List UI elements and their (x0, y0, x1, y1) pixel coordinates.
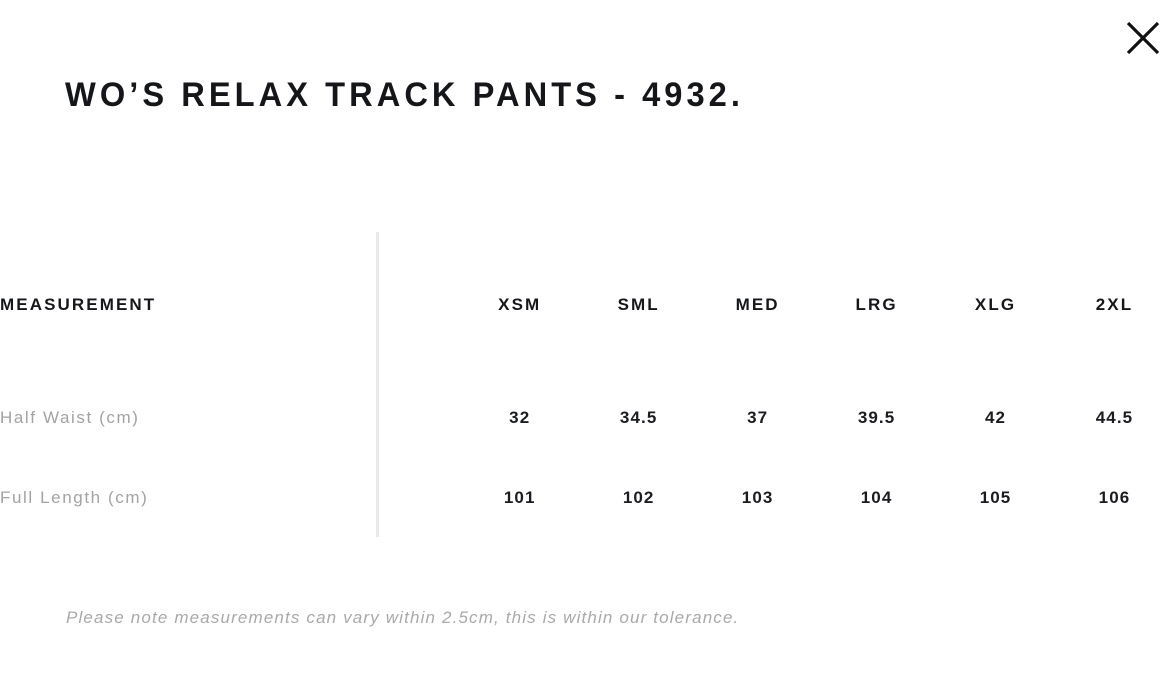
table-row: Full Length (cm) 101 102 103 104 105 106 (0, 458, 1174, 538)
cell-full-length-med: 103 (698, 458, 817, 538)
column-header-xlg: XLG (936, 232, 1055, 378)
cell-half-waist-xsm: 32 (460, 378, 579, 458)
column-header-lrg: LRG (817, 232, 936, 378)
cell-full-length-lrg: 104 (817, 458, 936, 538)
column-header-sml: SML (579, 232, 698, 378)
size-chart: MEASUREMENT XSM SML MED LRG XLG 2XL Half… (0, 232, 1174, 537)
tolerance-note: Please note measurements can vary within… (66, 608, 739, 628)
cell-full-length-xsm: 101 (460, 458, 579, 538)
close-icon (1126, 21, 1160, 55)
column-header-med: MED (698, 232, 817, 378)
close-button[interactable] (1123, 18, 1163, 58)
cell-half-waist-med: 37 (698, 378, 817, 458)
cell-half-waist-lrg: 39.5 (817, 378, 936, 458)
cell-full-length-xlg: 105 (936, 458, 1055, 538)
table-row: Half Waist (cm) 32 34.5 37 39.5 42 44.5 (0, 378, 1174, 458)
cell-half-waist-2xl: 44.5 (1055, 378, 1174, 458)
row-label-full-length: Full Length (cm) (0, 458, 460, 538)
cell-half-waist-xlg: 42 (936, 378, 1055, 458)
table-header-row: MEASUREMENT XSM SML MED LRG XLG 2XL (0, 232, 1174, 378)
cell-full-length-2xl: 106 (1055, 458, 1174, 538)
cell-full-length-sml: 102 (579, 458, 698, 538)
size-chart-table: MEASUREMENT XSM SML MED LRG XLG 2XL Half… (0, 232, 1174, 538)
cell-half-waist-sml: 34.5 (579, 378, 698, 458)
column-header-xsm: XSM (460, 232, 579, 378)
column-header-2xl: 2XL (1055, 232, 1174, 378)
column-header-measurement: MEASUREMENT (0, 232, 460, 378)
row-label-half-waist: Half Waist (cm) (0, 378, 460, 458)
page-title: WO’S RELAX TRACK PANTS - 4932. (65, 75, 744, 115)
